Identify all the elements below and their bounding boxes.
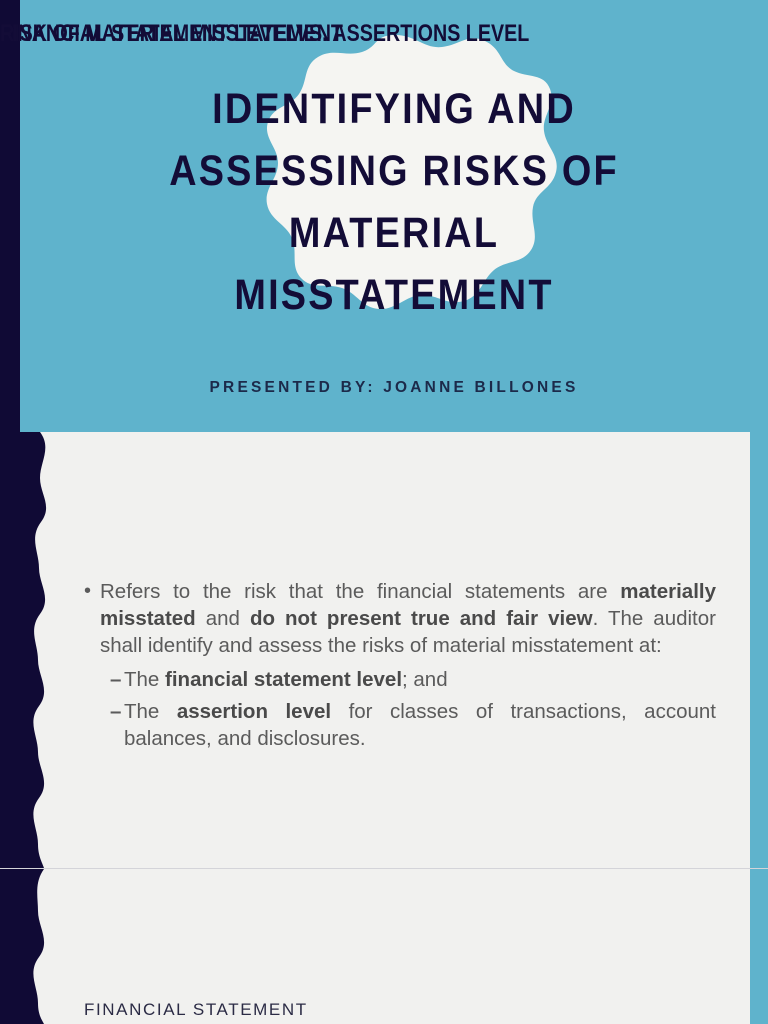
heading-fs-level-vs-assertions-level: FINANCIAL STATEMENT LEVELVS. ASSERTIONS … xyxy=(0,20,529,48)
title-line-2: ASSESSING RISKS OF xyxy=(65,140,723,202)
risk-sub-list: –The financial statement level; and –The… xyxy=(84,666,716,752)
navy-wave-left-edge xyxy=(0,869,60,1024)
sub-item-0-part1: The xyxy=(124,668,165,691)
dash-marker-icon: – xyxy=(110,666,121,693)
teal-right-strip xyxy=(750,869,768,1024)
heading-line-1: FINANCIAL STATEMENT LEVEL xyxy=(0,20,296,47)
title-line-4: MISSTATEMENT xyxy=(65,264,723,326)
bullet-dot-icon: • xyxy=(84,578,91,605)
sub-item-assertion-level: –The assertion level for classes of tran… xyxy=(110,698,716,752)
heading-line-2: VS. ASSERTIONS LEVEL xyxy=(296,20,529,47)
title-stack: IDENTIFYING AND ASSESSING RISKS OF MATER… xyxy=(20,78,768,326)
sub-item-0-bold: financial statement level xyxy=(165,668,402,691)
risk-bullet-block: •Refers to the risk that the financial s… xyxy=(84,578,716,757)
caption-financial-statement: FINANCIAL STATEMENT xyxy=(84,1000,308,1020)
bullet-bold-true-and-fair-view: do not present true and fair view xyxy=(250,607,593,630)
navy-left-rail xyxy=(0,0,20,432)
sub-item-financial-statement-level: –The financial statement level; and xyxy=(110,666,716,693)
title-line-1: IDENTIFYING AND xyxy=(65,78,723,140)
bullet-text-part2: and xyxy=(196,607,250,630)
navy-wave-left-edge xyxy=(0,432,60,868)
sub-item-1-part1: The xyxy=(124,700,177,723)
dash-marker-icon: – xyxy=(110,698,121,725)
sub-item-0-part2: ; and xyxy=(402,668,448,691)
bullet-main: •Refers to the risk that the financial s… xyxy=(84,578,716,659)
sub-item-1-bold: assertion level xyxy=(177,700,331,723)
teal-right-strip xyxy=(750,432,768,868)
presenter-byline: PRESENTED BY: JOANNE BILLONES xyxy=(20,379,768,397)
title-line-3: MATERIAL xyxy=(65,202,723,264)
slide-title: IDENTIFYING AND ASSESSING RISKS OF MATER… xyxy=(0,0,768,432)
bullet-text-part1: Refers to the risk that the financial st… xyxy=(100,580,620,603)
slide-deck: IDENTIFYING AND ASSESSING RISKS OF MATER… xyxy=(0,0,768,1024)
